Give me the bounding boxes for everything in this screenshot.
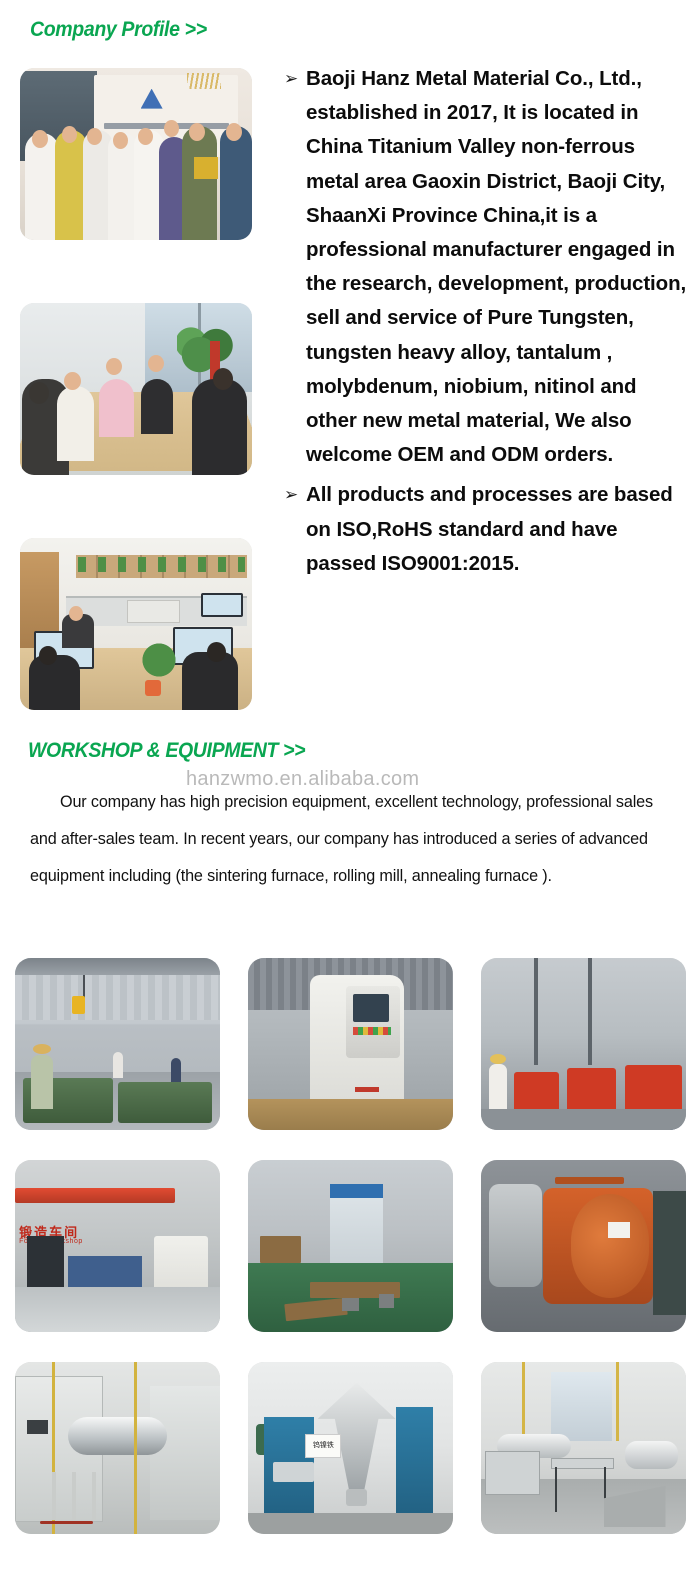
powder-mixer-photo: 钨镍铁	[248, 1362, 453, 1534]
mixer-label: 钨镍铁	[305, 1434, 341, 1458]
workshop-equipment-heading: WORKSHOP & EQUIPMENT >>	[28, 739, 305, 763]
office-workspace-photo	[20, 538, 252, 710]
bullet-marker-icon: ➢	[284, 478, 298, 512]
team-group-photo	[20, 68, 252, 240]
company-description-text: Baoji Hanz Metal Material Co., Ltd., est…	[306, 67, 686, 466]
mixing-equipment-room-photo	[481, 1362, 686, 1534]
workshop-description-paragraph: Our company has high precision equipment…	[30, 784, 675, 895]
company-description-paragraph: ➢ Baoji Hanz Metal Material Co., Ltd., e…	[284, 62, 690, 472]
bullet-marker-icon: ➢	[284, 62, 298, 96]
certification-text: All products and processes are based on …	[306, 483, 673, 574]
vacuum-annealing-furnace-photo	[15, 1362, 220, 1534]
workshop-photo-gallery: 锻造车间 Forging workshop	[15, 958, 687, 1564]
gallery-row: 锻造车间 Forging workshop	[15, 1160, 687, 1332]
machining-workshop-photo	[15, 958, 220, 1130]
company-profile-page: Company Profile >>	[0, 0, 700, 1587]
forging-workshop-photo: 锻造车间 Forging workshop	[15, 1160, 220, 1332]
band-saw-machines-photo	[481, 958, 686, 1130]
company-profile-text: ➢ Baoji Hanz Metal Material Co., Ltd., e…	[284, 62, 690, 581]
meeting-room-photo	[20, 303, 252, 475]
gallery-row	[15, 958, 687, 1130]
certification-paragraph: ➢ All products and processes are based o…	[284, 478, 690, 581]
company-profile-heading: Company Profile >>	[30, 18, 207, 42]
sintering-furnace-photo	[481, 1160, 686, 1332]
gallery-row: 钨镍铁	[15, 1362, 687, 1534]
storage-warehouse-photo	[248, 1160, 453, 1332]
cnc-lathe-photo	[248, 958, 453, 1130]
